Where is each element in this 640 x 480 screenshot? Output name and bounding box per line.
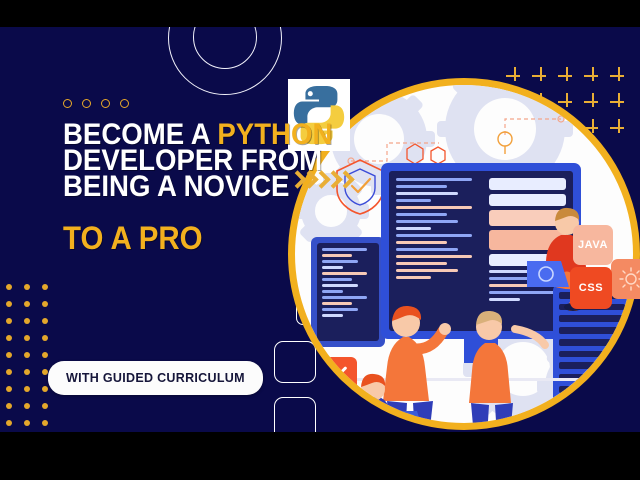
dot-icon	[42, 335, 48, 341]
dot-icon	[42, 352, 48, 358]
developer-with-net	[463, 303, 555, 423]
key-node-icon	[491, 105, 601, 155]
chevron-right-icon	[327, 171, 338, 193]
dot-icon	[24, 301, 30, 307]
dot-icon	[6, 386, 12, 392]
thumbnail-canvas: JAVA CSS	[0, 0, 640, 480]
dot-icon	[42, 420, 48, 426]
developer-seated-laptop	[339, 371, 443, 423]
decor-ring-row	[63, 99, 129, 108]
guided-curriculum-badge: WITH GUIDED CURRICULUM	[48, 361, 263, 395]
ring-icon	[101, 99, 110, 108]
dot-icon	[6, 284, 12, 290]
dot-icon	[6, 318, 12, 324]
dot-icon	[42, 301, 48, 307]
dot-icon	[42, 369, 48, 375]
decor-dot-grid	[2, 279, 56, 432]
letterbox-top	[0, 0, 640, 27]
dot-icon	[42, 386, 48, 392]
dot-icon	[42, 318, 48, 324]
dot-icon	[24, 420, 30, 426]
headline-line-4: TO A PRO	[63, 222, 293, 254]
sun-icon	[619, 267, 640, 291]
dot-icon	[6, 369, 12, 375]
java-badge: JAVA	[573, 225, 613, 265]
sun-badge	[611, 259, 640, 299]
dot-icon	[24, 318, 30, 324]
dot-icon	[42, 403, 48, 409]
java-badge-label: JAVA	[578, 239, 608, 251]
headline-block: BECOME A PYTHON DEVELOPER FROM BEING A N…	[63, 122, 313, 254]
dot-icon	[42, 284, 48, 290]
dot-icon	[24, 335, 30, 341]
ring-icon	[120, 99, 129, 108]
dot-icon	[24, 284, 30, 290]
ring-icon	[82, 99, 91, 108]
dot-icon	[24, 403, 30, 409]
css-badge: CSS	[570, 267, 612, 309]
letterbox-bottom	[0, 432, 640, 480]
css-badge-label: CSS	[579, 282, 603, 294]
dot-icon	[6, 420, 12, 426]
guided-curriculum-label: WITH GUIDED CURRICULUM	[66, 371, 245, 385]
dot-icon	[6, 335, 12, 341]
dot-icon	[6, 352, 12, 358]
dot-icon	[6, 403, 12, 409]
dot-icon	[6, 301, 12, 307]
dot-icon	[24, 352, 30, 358]
dot-icon	[24, 386, 30, 392]
artboard: JAVA CSS	[0, 27, 640, 432]
chevron-right-icon	[339, 171, 350, 193]
dot-icon	[24, 369, 30, 375]
ring-icon	[63, 99, 72, 108]
headline-line-3: BEING A NOVICE	[63, 174, 293, 200]
